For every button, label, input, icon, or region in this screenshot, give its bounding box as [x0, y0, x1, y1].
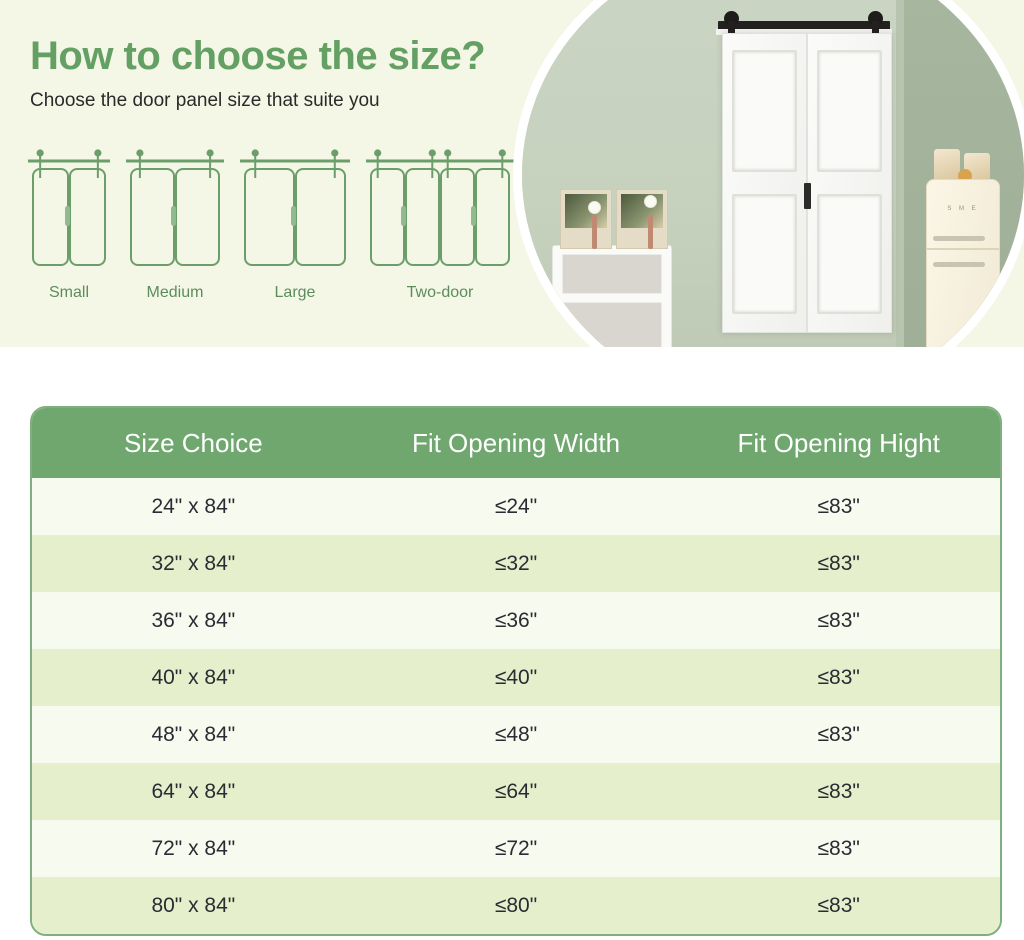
table-cell-width: ≤72": [355, 820, 678, 877]
door-handle: [804, 183, 811, 209]
table-cell-height: ≤83": [677, 820, 1000, 877]
table-cell-height: ≤83": [677, 649, 1000, 706]
table-cell-width: ≤64": [355, 763, 678, 820]
table-row[interactable]: 32" x 84"≤32"≤83": [32, 535, 1000, 592]
table-cell-width: ≤36": [355, 592, 678, 649]
table-cell-size: 36" x 84": [32, 592, 355, 649]
table-cell-size: 40" x 84": [32, 649, 355, 706]
table-header-cell-2: Fit Opening Hight: [677, 408, 1000, 478]
door-panel-bottom: [732, 194, 797, 314]
photo-image-clip: S M E: [522, 0, 1024, 347]
table-cell-width: ≤40": [355, 649, 678, 706]
table-cell-height: ≤83": [677, 478, 1000, 535]
table-row[interactable]: 80" x 84"≤80"≤83": [32, 877, 1000, 934]
table-cell-height: ≤83": [677, 763, 1000, 820]
fridge-door-divider: [927, 248, 999, 250]
door-diagram-graphic: [126, 146, 224, 274]
door-size-diagram-medium[interactable]: Medium: [126, 146, 224, 274]
table-cell-height: ≤83": [677, 592, 1000, 649]
door-size-diagram-two-door[interactable]: Two-door: [366, 146, 514, 274]
door-size-label: Large: [240, 284, 350, 302]
door-size-label: Medium: [126, 284, 224, 302]
table-cell-height: ≤83": [677, 535, 1000, 592]
page-title: How to choose the size?: [30, 34, 485, 79]
door-size-label: Small: [28, 284, 110, 302]
table-cell-size: 48" x 84": [32, 706, 355, 763]
table-cell-width: ≤32": [355, 535, 678, 592]
photo-ring-border: S M E: [513, 0, 1024, 347]
room-photo: S M E: [513, 0, 1024, 347]
table-row[interactable]: 24" x 84"≤24"≤83": [32, 478, 1000, 535]
table-body: 24" x 84"≤24"≤83"32" x 84"≤32"≤83"36" x …: [32, 478, 1000, 934]
table-cell-size: 64" x 84": [32, 763, 355, 820]
decor-bag-left: [934, 149, 960, 183]
cabinet-shelf-lower: [562, 302, 662, 347]
fridge-handle-lower: [933, 262, 985, 267]
size-chart-table: Size ChoiceFit Opening WidthFit Opening …: [30, 406, 1002, 936]
table-cell-width: ≤48": [355, 706, 678, 763]
door-diagram-graphic: [366, 146, 514, 274]
door-diagram-graphic: [240, 146, 350, 274]
flower-right: [645, 196, 656, 207]
fridge-top-decor: [932, 143, 998, 183]
framed-art-right: [616, 189, 668, 249]
door-panel-top: [817, 50, 882, 172]
refrigerator: S M E: [926, 179, 1000, 347]
flower-left: [589, 202, 600, 213]
door-size-label: Two-door: [366, 284, 514, 302]
door-size-diagram-group: SmallMediumLargeTwo-door: [28, 146, 518, 321]
barn-door-panels: [722, 33, 892, 333]
table-row[interactable]: 72" x 84"≤72"≤83": [32, 820, 1000, 877]
door-leaf-right: [807, 33, 892, 333]
door-diagram-graphic: [28, 146, 110, 274]
table-header-cell-1: Fit Opening Width: [355, 408, 678, 478]
door-size-diagram-small[interactable]: Small: [28, 146, 110, 274]
table-row[interactable]: 36" x 84"≤36"≤83": [32, 592, 1000, 649]
table-row[interactable]: 64" x 84"≤64"≤83": [32, 763, 1000, 820]
room-scene: S M E: [522, 0, 1024, 347]
table-cell-height: ≤83": [677, 877, 1000, 934]
table-row[interactable]: 48" x 84"≤48"≤83": [32, 706, 1000, 763]
vase-left: [592, 215, 597, 249]
vase-right: [648, 215, 653, 249]
cabinet: [552, 245, 672, 347]
page-subtitle: Choose the door panel size that suite yo…: [30, 90, 380, 112]
door-leaf-left: [722, 33, 807, 333]
door-panel-bottom: [817, 194, 882, 314]
table-cell-size: 80" x 84": [32, 877, 355, 934]
cabinet-shelf-upper: [562, 254, 662, 294]
door-size-diagram-large[interactable]: Large: [240, 146, 350, 274]
table-cell-height: ≤83": [677, 706, 1000, 763]
fridge-handle-upper: [933, 236, 985, 241]
table-cell-size: 72" x 84": [32, 820, 355, 877]
table-row[interactable]: 40" x 84"≤40"≤83": [32, 649, 1000, 706]
table-cell-width: ≤80": [355, 877, 678, 934]
table-header-cell-0: Size Choice: [32, 408, 355, 478]
table-cell-size: 32" x 84": [32, 535, 355, 592]
door-panel-top: [732, 50, 797, 172]
table-cell-size: 24" x 84": [32, 478, 355, 535]
table-cell-width: ≤24": [355, 478, 678, 535]
fridge-brand-badge: S M E: [947, 206, 978, 212]
hero-banner: How to choose the size? Choose the door …: [0, 0, 1024, 347]
framed-art-left: [560, 189, 612, 249]
table-header-row: Size ChoiceFit Opening WidthFit Opening …: [32, 408, 1000, 478]
